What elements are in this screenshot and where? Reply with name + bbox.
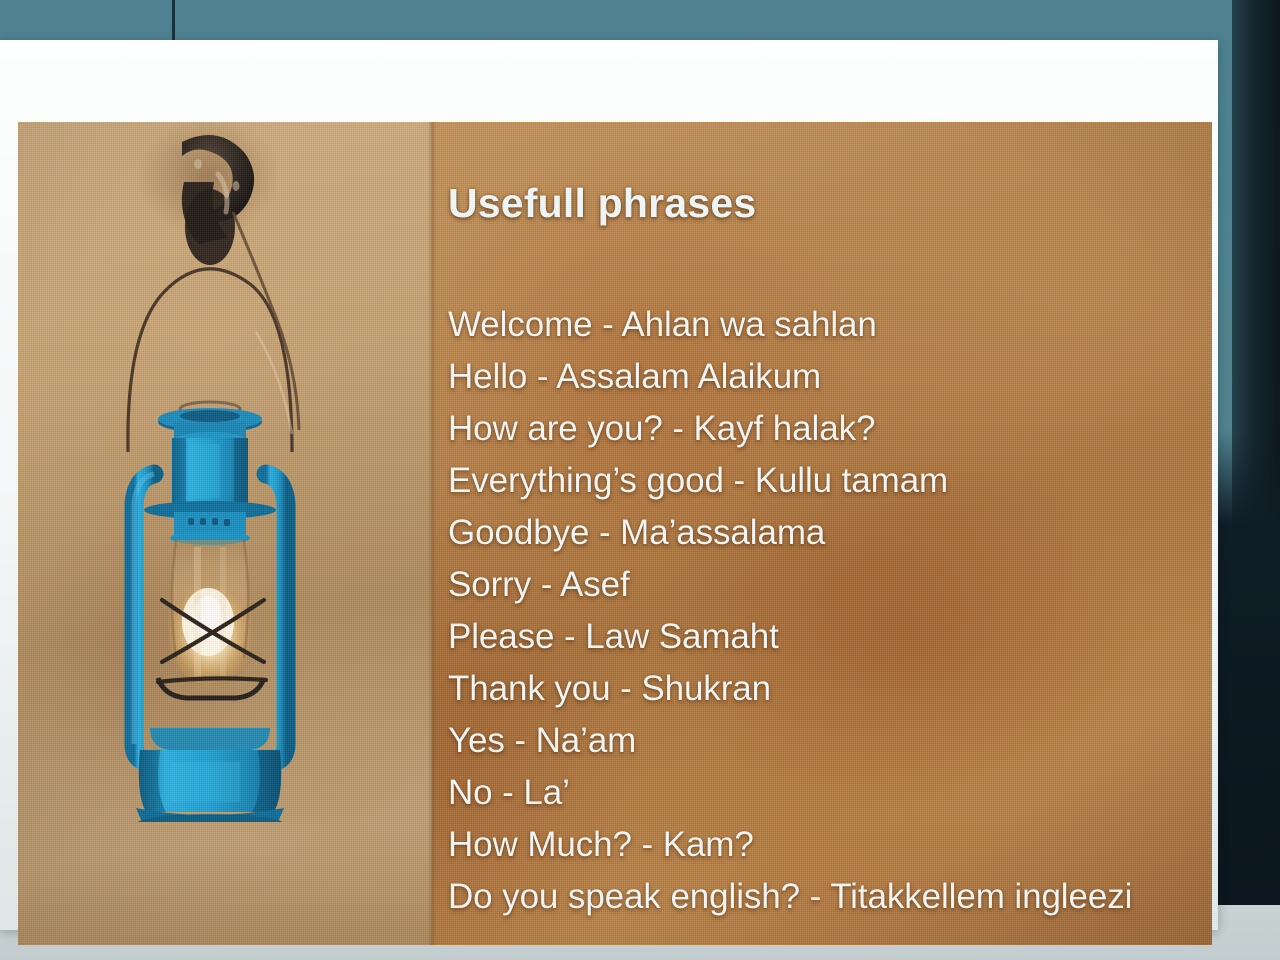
lantern-illustration	[58, 122, 388, 822]
list-item: Welcome - Ahlan wa sahlan	[448, 299, 1208, 351]
poster-panel-seam	[428, 122, 436, 945]
page-title: Usefull phrases	[448, 182, 1208, 225]
phrase-list: Welcome - Ahlan wa sahlan Hello - Assala…	[448, 299, 1208, 923]
lantern-frame-right	[266, 474, 286, 762]
list-item: Sorry - Asef	[448, 559, 1208, 611]
list-item: Everything’s good - Kullu tamam	[448, 455, 1208, 507]
list-item: How are you? - Kayf halak?	[448, 403, 1208, 455]
printed-poster: Usefull phrases Welcome - Ahlan wa sahla…	[18, 122, 1212, 945]
paper-sheet: Usefull phrases Welcome - Ahlan wa sahla…	[0, 40, 1218, 930]
screenshot-root: Usefull phrases Welcome - Ahlan wa sahla…	[0, 0, 1280, 960]
list-item: Yes - Na’am	[448, 715, 1208, 767]
list-item: Please - Law Samaht	[448, 611, 1208, 663]
list-item: Goodbye - Ma’assalama	[448, 507, 1208, 559]
lantern-frame-left	[134, 474, 154, 762]
list-item: Do you speak english? - Titakkellem ingl…	[448, 871, 1208, 923]
list-item: No - La’	[448, 767, 1208, 819]
background-dark-shadow-block	[1212, 430, 1280, 960]
poster-text-block: Usefull phrases Welcome - Ahlan wa sahla…	[448, 182, 1208, 923]
list-item: Thank you - Shukran	[448, 663, 1208, 715]
list-item: Hello - Assalam Alaikum	[448, 351, 1208, 403]
list-item: How Much? - Kam?	[448, 819, 1208, 871]
